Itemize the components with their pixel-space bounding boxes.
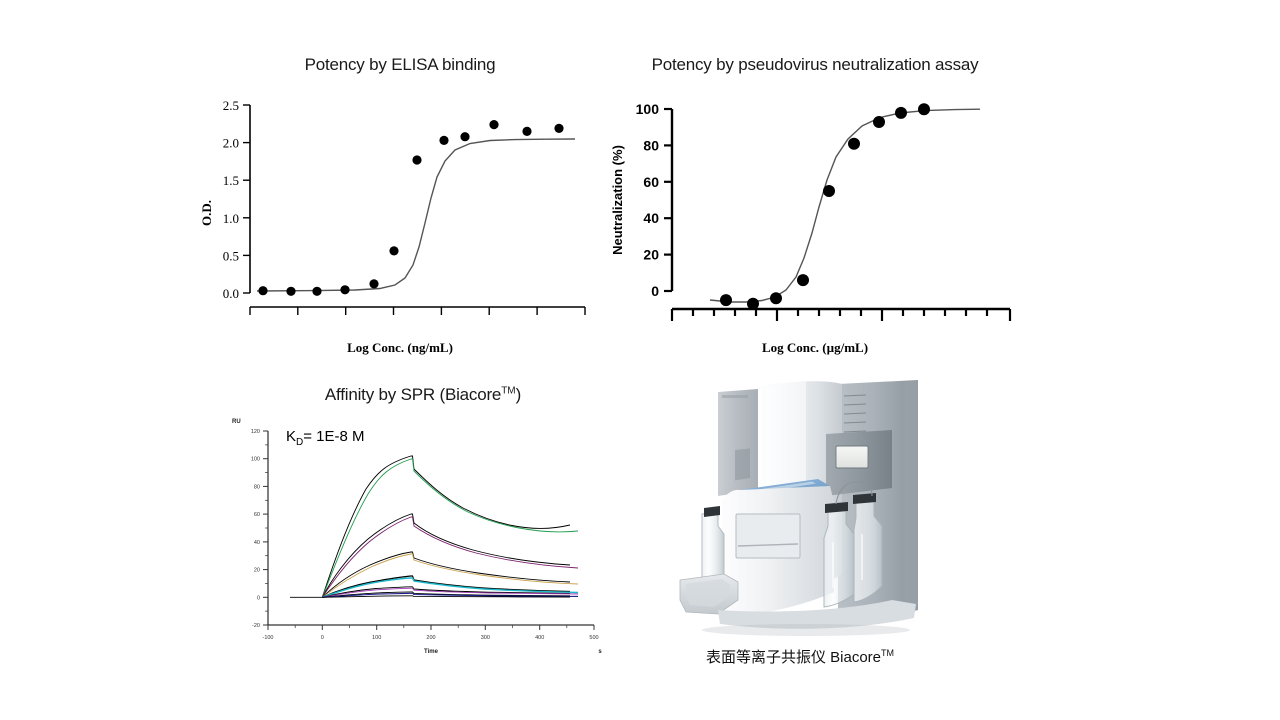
svg-text:0: 0 (257, 595, 260, 601)
neutralization-y-axis-title: Neutralization (%) (610, 145, 625, 255)
svg-text:100: 100 (636, 101, 660, 117)
svg-text:60: 60 (643, 174, 659, 190)
instrument-caption: 表面等离子共振仪 BiacoreTM (660, 646, 940, 667)
svg-text:-100: -100 (262, 635, 273, 641)
spr-y-tick-labels: 120 100 80 60 40 20 0 -20 (251, 429, 260, 629)
spr-sensorgram-plot: RU 120 100 80 60 40 20 0 (228, 413, 608, 663)
instrument-display-screen (836, 446, 868, 468)
spr-chart-title: Affinity by SPR (BiacoreTM) (223, 385, 623, 405)
instrument-left-door-slot (735, 449, 750, 481)
spr-title-trademark: TM (501, 385, 515, 396)
spr-x-axis-unit: s (598, 649, 602, 655)
svg-text:0: 0 (651, 283, 659, 299)
svg-text:0: 0 (321, 635, 324, 641)
svg-text:80: 80 (254, 484, 260, 490)
svg-text:-20: -20 (252, 623, 260, 629)
spr-x-ticks (268, 625, 594, 630)
instrument-door-logo (722, 395, 748, 398)
panel-biacore-instrument: 表面等离子共振仪 BiacoreTM (660, 378, 940, 678)
svg-text:1.5: 1.5 (223, 173, 239, 188)
neutralization-data-points (720, 103, 930, 309)
neutralization-fit-curve (710, 109, 980, 302)
svg-text:2.0: 2.0 (223, 136, 239, 151)
panel-spr-affinity: Affinity by SPR (BiacoreTM) RU 120 100 (228, 385, 628, 680)
instrument-tower-shadow (904, 380, 918, 614)
svg-text:0.5: 0.5 (223, 248, 239, 263)
svg-text:200: 200 (426, 635, 435, 641)
svg-text:80: 80 (643, 137, 659, 153)
neutralization-x-axis-title: Log Conc. (µg/mL) (600, 340, 1030, 356)
spr-kd-symbol: K (286, 428, 296, 445)
spr-trace-conf1-fit (322, 456, 570, 597)
svg-text:40: 40 (254, 540, 260, 546)
elisa-x-axis-title: Log Conc. (ng/mL) (195, 340, 605, 356)
panel-pseudovirus-neutralization: Potency by pseudovirus neutralization as… (600, 55, 1030, 365)
neutralization-x-ticks (672, 309, 1010, 321)
elisa-x-ticks (250, 307, 585, 315)
spr-y-ticks (263, 431, 268, 625)
svg-text:120: 120 (251, 429, 260, 435)
instrument-drop-shadow (702, 624, 910, 636)
instrument-caption-text: 表面等离子共振仪 Biacore (706, 649, 881, 666)
spr-kd-annotation: KD= 1E-8 M (286, 428, 365, 448)
svg-text:300: 300 (481, 635, 490, 641)
svg-text:100: 100 (251, 457, 260, 463)
spr-kd-subscript: D (296, 437, 303, 448)
instrument-waste-bottle (702, 506, 724, 586)
svg-text:1.0: 1.0 (223, 211, 239, 226)
spr-x-axis-title: Time (424, 649, 439, 655)
elisa-chart-title: Potency by ELISA binding (195, 55, 605, 75)
svg-text:500: 500 (589, 635, 598, 641)
elisa-chart-plot: 2.5 2.0 1.5 1.0 0.5 0.0 O.D. (195, 95, 605, 325)
instrument-drawer-face (736, 514, 800, 558)
spr-title-main: Affinity by SPR (Biacore (325, 385, 501, 404)
elisa-y-ticks (243, 105, 250, 293)
spr-y-axis-unit: RU (232, 419, 241, 425)
svg-text:2.5: 2.5 (223, 98, 239, 113)
spr-x-tick-labels: -100 0 100 200 300 400 500 (262, 635, 598, 641)
elisa-y-tick-labels: 2.5 2.0 1.5 1.0 0.5 0.0 (223, 98, 239, 301)
panel-elisa-binding: Potency by ELISA binding 2.5 2.0 1.5 1.0… (195, 55, 605, 365)
spr-title-tail: ) (516, 385, 521, 404)
svg-text:400: 400 (535, 635, 544, 641)
neutralization-y-ticks (664, 109, 672, 291)
svg-text:40: 40 (643, 210, 659, 226)
biacore-instrument-image (678, 378, 926, 640)
svg-text:100: 100 (372, 635, 381, 641)
instrument-caption-trademark: TM (881, 648, 894, 658)
spr-kd-value: = 1E-8 M (303, 428, 364, 445)
svg-text:0.0: 0.0 (223, 286, 239, 301)
neutralization-y-tick-labels: 100 80 60 40 20 0 (636, 101, 660, 299)
neutralization-chart-plot: 100 80 60 40 20 0 Neutralization (%) (600, 95, 1030, 330)
neutralization-chart-title: Potency by pseudovirus neutralization as… (600, 55, 1030, 75)
elisa-y-axis-title: O.D. (199, 200, 214, 226)
svg-text:20: 20 (643, 247, 659, 263)
svg-text:20: 20 (254, 568, 260, 574)
spr-sensorgram-traces (290, 456, 578, 597)
svg-text:60: 60 (254, 512, 260, 518)
